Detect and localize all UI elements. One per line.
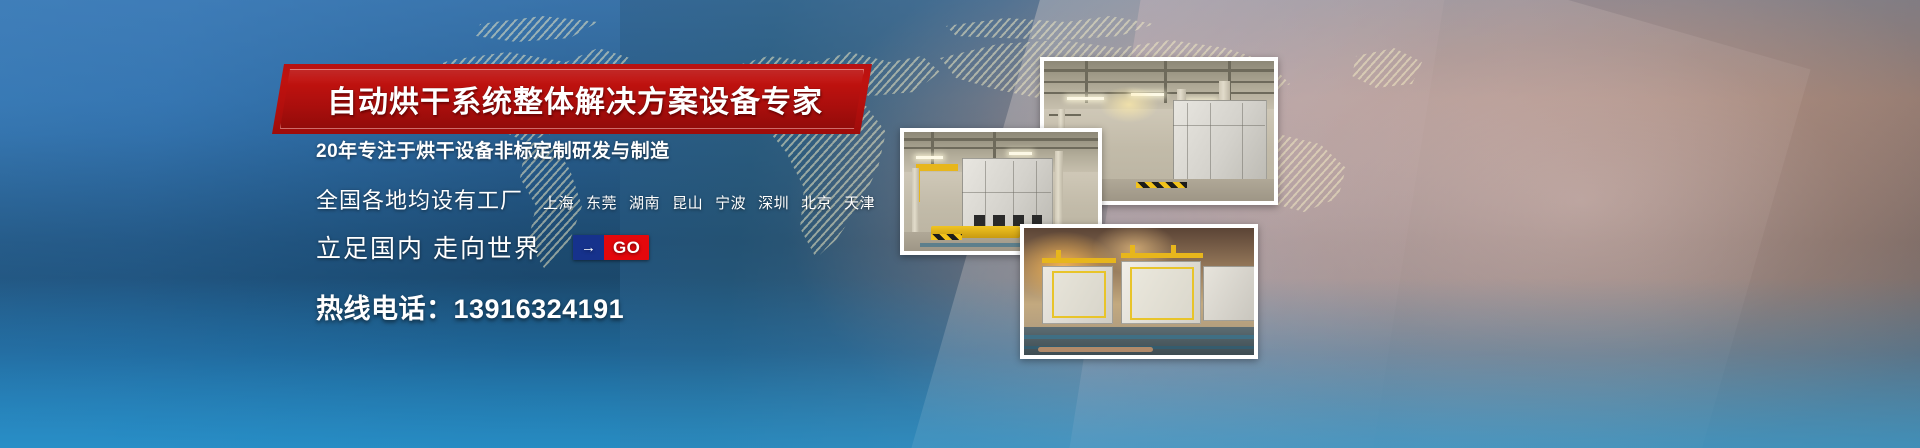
go-button-label: GO	[604, 235, 649, 260]
go-button[interactable]: → GO	[573, 235, 649, 260]
city-item: 东莞	[586, 195, 617, 212]
city-item: 天津	[844, 195, 875, 212]
arrow-right-icon: →	[573, 235, 604, 260]
hotline-text: 热线电话：13916324191	[316, 287, 1136, 326]
photo-drying-chambers-production-row	[1020, 224, 1258, 359]
slogan-text: 立足国内 走向世界	[316, 229, 541, 265]
city-item: 湖南	[629, 195, 660, 212]
page-title: 自动烘干系统整体解决方案设备专家	[272, 64, 872, 134]
city-item: 北京	[801, 195, 832, 212]
title-banner: 自动烘干系统整体解决方案设备专家	[272, 64, 872, 134]
city-item: 上海	[543, 195, 574, 212]
city-list: 上海东莞湖南昆山宁波深圳北京天津	[543, 192, 887, 213]
city-item: 深圳	[758, 195, 789, 212]
promotional-banner: 自动烘干系统整体解决方案设备专家 20年专注于烘干设备非标定制研发与制造 全国各…	[0, 0, 1920, 448]
city-item: 昆山	[672, 195, 703, 212]
city-item: 宁波	[715, 195, 746, 212]
factories-heading: 全国各地均设有工厂	[316, 183, 523, 215]
